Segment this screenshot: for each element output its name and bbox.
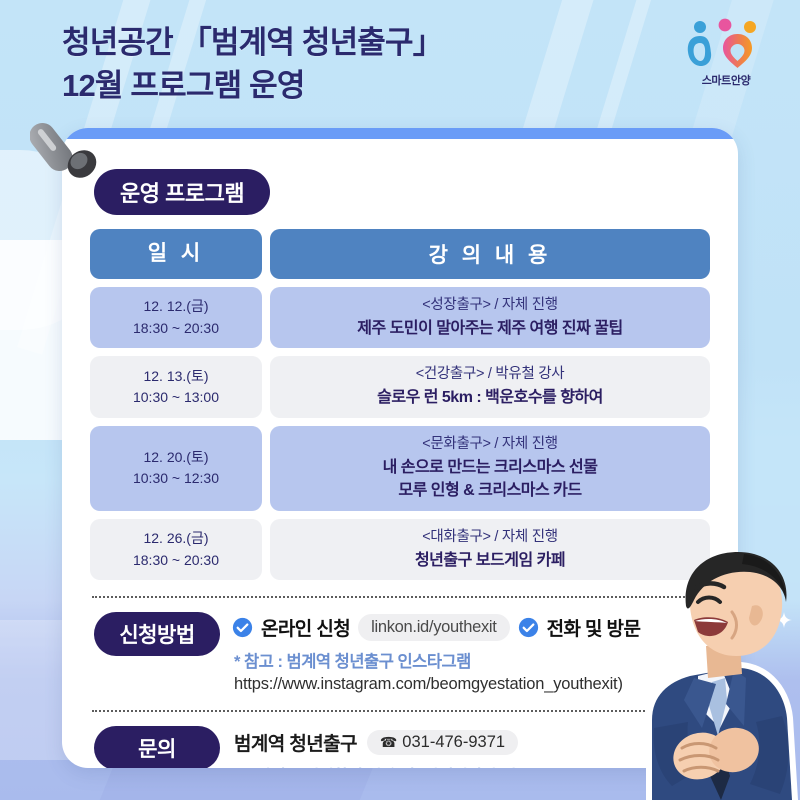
table-cell-content: <대화출구> / 자체 진행 청년출구 보드게임 카페 xyxy=(270,519,710,580)
program-time: 18:30 ~ 20:30 xyxy=(133,550,219,571)
pushpin-icon xyxy=(30,114,116,200)
brand-logo-label: 스마트안양 xyxy=(680,72,772,88)
table-row: 12. 13.(토) 10:30 ~ 13:00 <건강출구> / 박유철 강사… xyxy=(90,356,710,417)
inquiry-phone-number: 031-476-9371 xyxy=(402,733,505,752)
apply-instagram-note: * 참고 : 범계역 청년출구 인스타그램 xyxy=(234,648,640,672)
sparkle-star-icon xyxy=(738,560,772,594)
program-time: 18:30 ~ 20:30 xyxy=(133,318,219,339)
table-row: 12. 12.(금) 18:30 ~ 20:30 <성장출구> / 자체 진행 … xyxy=(90,287,710,348)
program-date: 12. 20.(토) xyxy=(143,447,208,468)
table-cell-date: 12. 12.(금) 18:30 ~ 20:30 xyxy=(90,287,262,348)
program-subtitle: <문화출구> / 자체 진행 xyxy=(422,434,558,456)
table-row: 12. 20.(토) 10:30 ~ 12:30 <문화출구> / 자체 진행 … xyxy=(90,426,710,511)
smart-anyang-heart-logo-icon xyxy=(680,18,772,70)
check-circle-icon xyxy=(232,617,253,638)
section-label-program: 운영 프로그램 xyxy=(94,169,270,215)
program-subtitle: <대화출구> / 자체 진행 xyxy=(422,527,558,549)
program-title: 청년출구 보드게임 카페 xyxy=(415,549,565,573)
table-cell-date: 12. 20.(토) 10:30 ~ 12:30 xyxy=(90,426,262,511)
table-header-date: 일 시 xyxy=(90,229,262,279)
inquiry-section: 문의 범계역 청년출구 ☎ 031-476-9371 ※ 범계 롯데백화점 지하… xyxy=(94,726,710,768)
inquiry-address: ※ 범계 롯데백화점 지하1층 범계역광장 내 xyxy=(236,763,518,768)
check-circle-icon xyxy=(518,617,539,638)
main-content-card: 운영 프로그램 일 시 강 의 내 용 12. 12.(금) 18:30 ~ 2… xyxy=(62,128,738,768)
table-cell-date: 12. 13.(토) 10:30 ~ 13:00 xyxy=(90,356,262,417)
poster-root: 청년공간 「범계역 청년출구」 12월 프로그램 운영 xyxy=(0,0,800,800)
program-subtitle: <건강출구> / 박유철 강사 xyxy=(416,364,565,386)
program-date: 12. 26.(금) xyxy=(143,528,208,549)
brand-logo: 스마트안양 xyxy=(680,18,772,94)
telephone-icon: ☎ xyxy=(380,734,397,751)
program-subtitle: <성장출구> / 자체 진행 xyxy=(422,295,558,317)
inquiry-phone-chip[interactable]: ☎ 031-476-9371 xyxy=(367,730,518,755)
card-top-accent-bar xyxy=(62,128,738,139)
program-title: 제주 도민이 말아주는 제주 여행 진짜 꿀팁 xyxy=(357,317,622,341)
table-cell-content: <문화출구> / 자체 진행 내 손으로 만드는 크리스마스 선물 모루 인형 … xyxy=(270,426,710,511)
section-label-inquiry: 문의 xyxy=(94,726,220,768)
table-cell-content: <건강출구> / 박유철 강사 슬로우 런 5km : 백운호수를 향하여 xyxy=(270,356,710,417)
section-label-apply: 신청방법 xyxy=(94,612,220,656)
page-title: 청년공간 「범계역 청년출구」 12월 프로그램 운영 xyxy=(62,22,443,108)
poster-header: 청년공간 「범계역 청년출구」 12월 프로그램 운영 xyxy=(0,0,800,130)
program-title: 슬로우 런 5km : 백운호수를 향하여 xyxy=(377,386,603,410)
table-row: 12. 26.(금) 18:30 ~ 20:30 <대화출구> / 자체 진행 … xyxy=(90,519,710,580)
program-date: 12. 12.(금) xyxy=(143,296,208,317)
table-header-row: 일 시 강 의 내 용 xyxy=(90,229,710,279)
sparkle-star-icon xyxy=(776,612,792,628)
program-title: 내 손으로 만드는 크리스마스 선물 모루 인형 & 크리스마스 카드 xyxy=(383,456,598,503)
inquiry-place-name: 범계역 청년출구 xyxy=(234,729,357,756)
table-cell-content: <성장출구> / 자체 진행 제주 도민이 말아주는 제주 여행 진짜 꿀팁 xyxy=(270,287,710,348)
divider-dotted xyxy=(92,710,708,712)
apply-instagram-url[interactable]: https://www.instagram.com/beomgyestation… xyxy=(234,675,640,694)
apply-option-phone-visit: 전화 및 방문 xyxy=(547,614,641,641)
apply-section: 신청방법 온라인 신청 linkon.id/youthexit xyxy=(94,612,710,694)
program-time: 10:30 ~ 13:00 xyxy=(133,387,219,408)
program-date: 12. 13.(토) xyxy=(143,366,208,387)
apply-link-chip[interactable]: linkon.id/youthexit xyxy=(358,614,509,641)
program-table: 일 시 강 의 내 용 12. 12.(금) 18:30 ~ 20:30 <성장… xyxy=(90,229,710,580)
apply-option-online: 온라인 신청 xyxy=(261,614,350,641)
table-header-content: 강 의 내 용 xyxy=(270,229,710,279)
program-time: 10:30 ~ 12:30 xyxy=(133,468,219,489)
table-cell-date: 12. 26.(금) 18:30 ~ 20:30 xyxy=(90,519,262,580)
divider-dotted xyxy=(92,596,708,598)
